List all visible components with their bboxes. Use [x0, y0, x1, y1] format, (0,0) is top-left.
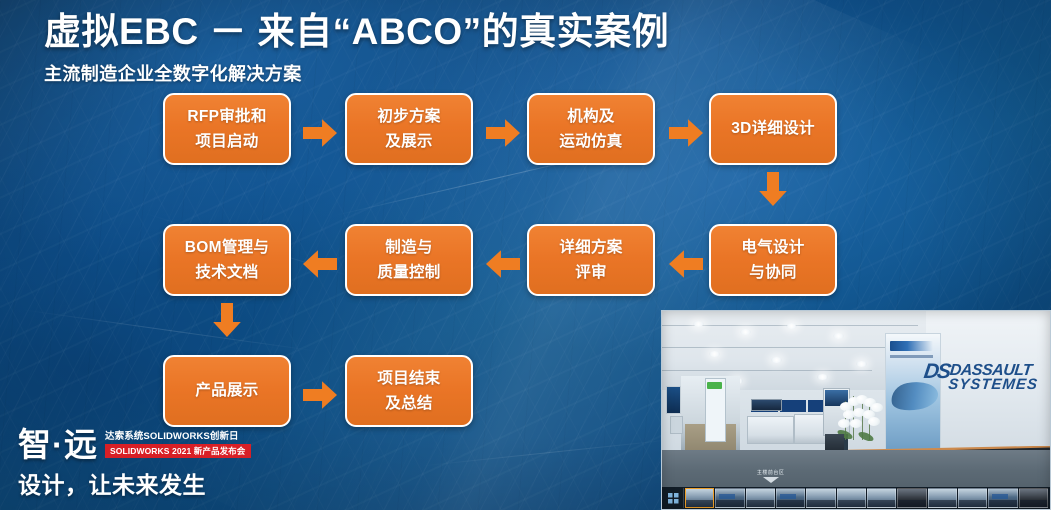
- flow-node-line: 项目结束: [377, 371, 440, 387]
- flow-node-bom-management[interactable]: BOM管理与 技术文档: [163, 224, 291, 296]
- ds-logo-mark: DS: [923, 362, 951, 381]
- ceiling-light: [833, 333, 844, 339]
- grid-icon[interactable]: [664, 488, 684, 508]
- flow-node-line: RFP审批和: [187, 109, 266, 125]
- thumbnail-item[interactable]: [776, 488, 805, 508]
- display-panel: [780, 400, 805, 412]
- flow-node-manufacturing-qc[interactable]: 制造与 质量控制: [345, 224, 473, 296]
- ds-logo-wordmark: DASSAULT SYSTEMES: [948, 364, 1041, 392]
- flow-node-project-closure[interactable]: 项目结束 及总结: [345, 355, 473, 427]
- flow-node-line: 质量控制: [377, 265, 440, 281]
- flow-node-line: BOM管理与: [185, 240, 269, 256]
- panorama-scene[interactable]: DS DASSAULT SYSTEMES: [662, 311, 1050, 509]
- thumbnail-band: [959, 500, 986, 507]
- thumbnail-item[interactable]: [867, 488, 896, 508]
- brand-tagline: 设计，让未来发生: [18, 466, 251, 500]
- flow-node-line: 及展示: [385, 134, 432, 150]
- flow-node-line: 制造与: [385, 240, 432, 256]
- thumbnail-band: [929, 500, 956, 507]
- flow-node-line: 电气设计: [741, 240, 804, 256]
- flow-node-line: 评审: [575, 265, 607, 281]
- slide-header: 虚拟EBC － 来自“ABCO”的真实案例 主流制造企业全数字化解决方案: [44, 8, 669, 86]
- thumbnail-highlight: [780, 494, 796, 499]
- thumbnail-item[interactable]: [715, 488, 744, 508]
- ds-logo-line2: SYSTEMES: [948, 378, 1039, 392]
- flow-node-line: 技术文档: [195, 265, 258, 281]
- ceiling-light: [771, 357, 782, 363]
- flow-node-line: 机构及: [567, 109, 614, 125]
- ceiling-light: [856, 361, 867, 367]
- brand-wordmark: 智·远: [18, 428, 98, 462]
- ceiling-light: [740, 329, 751, 335]
- flow-node-line: 项目启动: [195, 134, 258, 150]
- thumbnail-item[interactable]: [897, 488, 926, 508]
- thumbnail-band: [838, 500, 865, 507]
- hotspot-label: 主楼前台区: [757, 470, 785, 476]
- thumbnail-item[interactable]: [1019, 488, 1048, 508]
- ceiling-light: [693, 321, 704, 327]
- thumbnail-item[interactable]: [806, 488, 835, 508]
- thumbnail-band: [777, 500, 804, 507]
- thumbnail-strip[interactable]: [662, 487, 1050, 509]
- thumbnail-item[interactable]: [928, 488, 957, 508]
- flow-node-line: 初步方案: [377, 109, 440, 125]
- chevron-up-icon: [763, 477, 779, 483]
- event-name: 达索系统SOLIDWORKS创新日: [105, 431, 251, 442]
- thumbnail-band: [807, 500, 834, 507]
- thumbnail-band: [868, 500, 895, 507]
- thumbnail-band: [716, 500, 743, 507]
- flow-node-3d-detail-design[interactable]: 3D详细设计: [709, 93, 837, 165]
- flow-node-line: 及总结: [385, 396, 432, 412]
- flow-node-product-demo[interactable]: 产品展示: [163, 355, 291, 427]
- thumbnail-list[interactable]: [685, 488, 1048, 508]
- banner-logo: [890, 341, 933, 351]
- thumbnail-band: [747, 500, 774, 507]
- navigation-hotspot[interactable]: 主楼前台区: [755, 469, 786, 483]
- reception-counter: [747, 416, 794, 444]
- thumbnail-item[interactable]: [988, 488, 1017, 508]
- thumbnail-highlight: [719, 494, 735, 499]
- flow-node-line: 详细方案: [559, 240, 622, 256]
- thumbnail-item[interactable]: [958, 488, 987, 508]
- exit-sign-icon: [707, 382, 723, 389]
- thumbnail-item[interactable]: [685, 488, 714, 508]
- event-badge: SOLIDWORKS 2021 新产品发布会: [105, 444, 251, 458]
- thumbnail-item[interactable]: [837, 488, 866, 508]
- flow-node-line: 运动仿真: [559, 134, 622, 150]
- banner-text-line: [890, 355, 933, 358]
- brand-block: 智·远 达索系统SOLIDWORKS创新日 SOLIDWORKS 2021 新产…: [18, 428, 251, 500]
- wall-poster: [670, 416, 684, 434]
- wall-poster: [666, 386, 682, 414]
- flow-node-detail-plan-review[interactable]: 详细方案 评审: [527, 224, 655, 296]
- flow-node-rfp-approval[interactable]: RFP审批和 项目启动: [163, 93, 291, 165]
- thumbnail-item[interactable]: [746, 488, 775, 508]
- virtual-tour-viewer[interactable]: DS DASSAULT SYSTEMES: [661, 310, 1051, 510]
- ceiling-light: [786, 323, 797, 329]
- ceiling-line: [662, 347, 895, 348]
- flow-node-line: 产品展示: [195, 383, 258, 399]
- ceiling-line: [662, 370, 872, 371]
- thumbnail-band: [989, 500, 1016, 507]
- page-title: 虚拟EBC － 来自“ABCO”的真实案例: [44, 8, 669, 56]
- flow-node-preliminary-plan[interactable]: 初步方案 及展示: [345, 93, 473, 165]
- ceiling-light: [709, 351, 720, 357]
- flow-node-mechanism-simulation[interactable]: 机构及 运动仿真: [527, 93, 655, 165]
- thumbnail-highlight: [992, 494, 1008, 499]
- flow-node-line: 与协同: [749, 265, 796, 281]
- slide-canvas: 虚拟EBC － 来自“ABCO”的真实案例 主流制造企业全数字化解决方案 RFP…: [0, 0, 1051, 510]
- thumbnail-band: [898, 500, 925, 507]
- flow-node-line: 3D详细设计: [731, 121, 815, 137]
- flow-node-electrical-design[interactable]: 电气设计 与协同: [709, 224, 837, 296]
- wall-monitor: [751, 399, 782, 411]
- page-subtitle: 主流制造企业全数字化解决方案: [44, 60, 669, 86]
- thumbnail-band: [686, 500, 713, 507]
- thumbnail-band: [1020, 500, 1047, 507]
